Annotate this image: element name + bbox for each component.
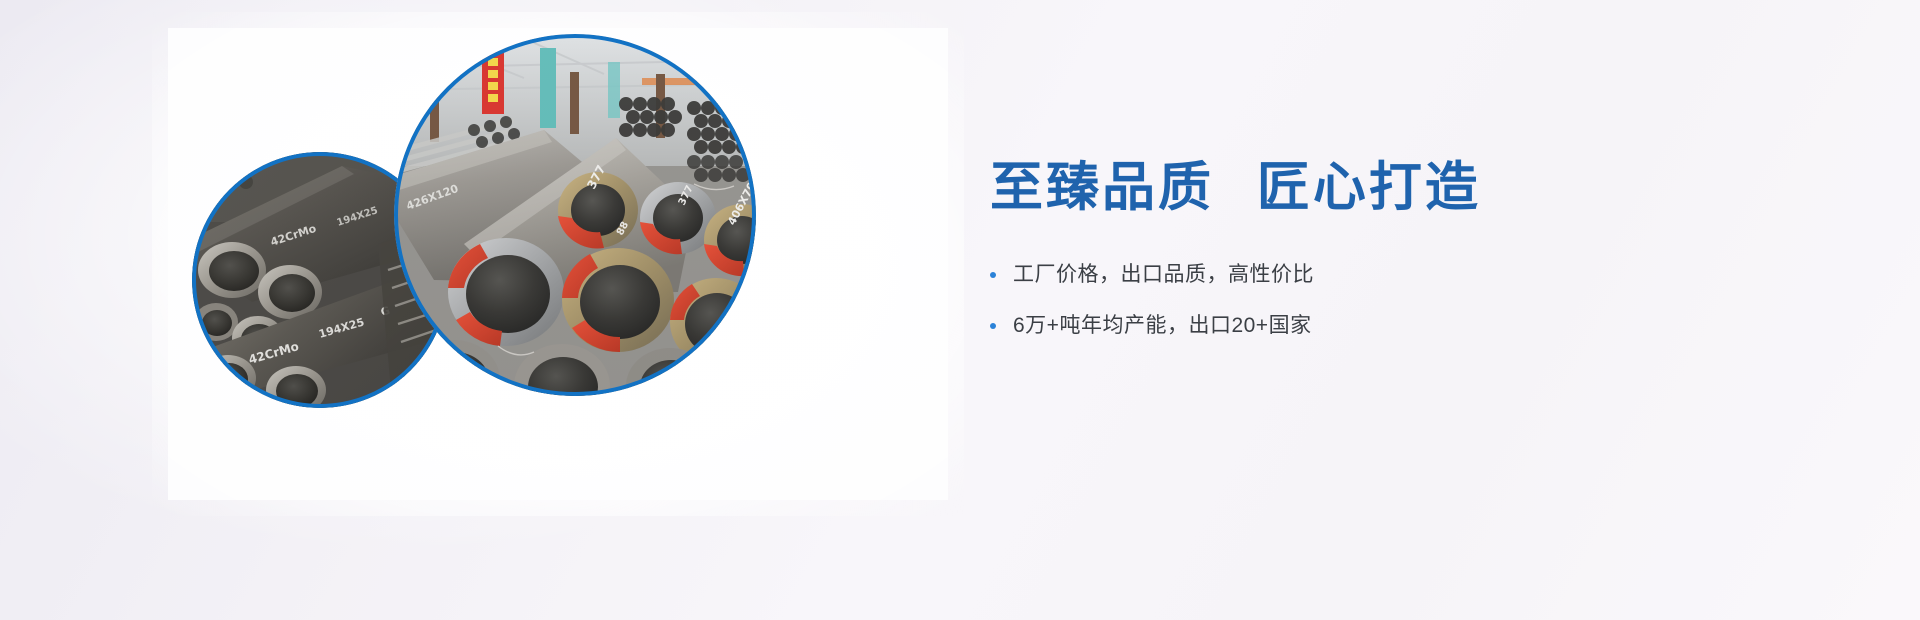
pipe-warehouse-illustration: 426X120 377 88 377 [394, 34, 756, 396]
benefit-item-1: 工厂价格，出口品质，高性价比 [990, 259, 1810, 291]
bullet-dot-icon [990, 323, 996, 329]
photo-right-content: 426X120 377 88 377 [394, 34, 756, 396]
benefit-list: 工厂价格，出口品质，高性价比 6万+吨年均产能，出口20+国家 [990, 259, 1810, 341]
banner-headline: 至臻品质 匠心打造 [990, 158, 1810, 217]
bullet-dot-icon [990, 272, 996, 278]
benefit-text-1: 工厂价格，出口品质，高性价比 [1013, 259, 1314, 291]
banner-copy: 至臻品质 匠心打造 工厂价格，出口品质，高性价比 6万+吨年均产能，出口20+国… [990, 158, 1810, 360]
hero-banner: 42CrMo 194X25 [0, 0, 1920, 620]
product-photo-circle-right[interactable]: 426X120 377 88 377 [394, 34, 756, 396]
benefit-text-2: 6万+吨年均产能，出口20+国家 [1013, 310, 1312, 342]
benefit-item-2: 6万+吨年均产能，出口20+国家 [990, 310, 1810, 342]
